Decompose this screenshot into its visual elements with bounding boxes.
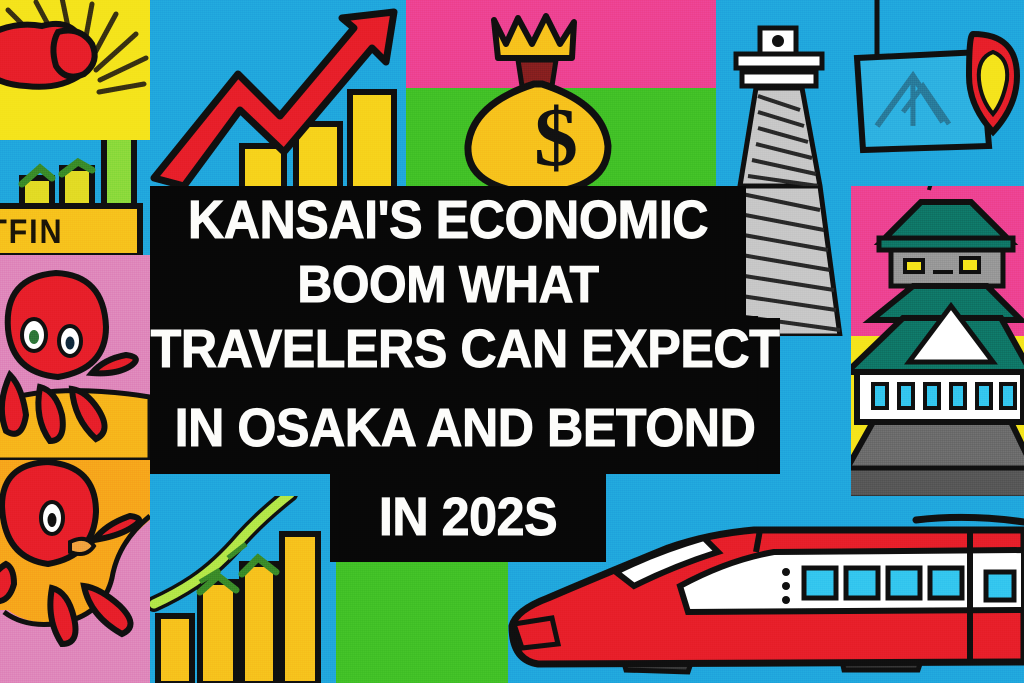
castle-window-right — [961, 258, 979, 272]
green-block-upper — [336, 496, 508, 560]
castle-panel — [851, 186, 1024, 496]
octopus-panel-lower — [0, 460, 150, 683]
sunburst-panel — [0, 0, 150, 140]
dollar-sign: $ — [501, 96, 610, 180]
bag-neck-icon — [494, 16, 574, 58]
bar-chart-panel — [150, 496, 336, 683]
factory-label: TFIN — [0, 213, 63, 252]
octopus-panel-upper — [0, 255, 150, 460]
tower-shaft-continue — [716, 186, 851, 336]
money-bag-panel: $ — [406, 0, 716, 186]
bar-3 — [350, 92, 394, 186]
castle-window-left — [905, 260, 923, 272]
bar-1 — [242, 146, 284, 186]
factory-chart-panel: TFIN — [0, 140, 150, 255]
tower-panel — [716, 0, 851, 186]
mid-left-blue — [150, 186, 716, 496]
growth-arrow-panel — [150, 0, 406, 186]
map-pin-panel — [851, 0, 1024, 186]
shinkansen-train — [508, 490, 1024, 683]
green-block-panel — [336, 560, 508, 683]
poster-canvas: TFIN — [0, 0, 1024, 683]
